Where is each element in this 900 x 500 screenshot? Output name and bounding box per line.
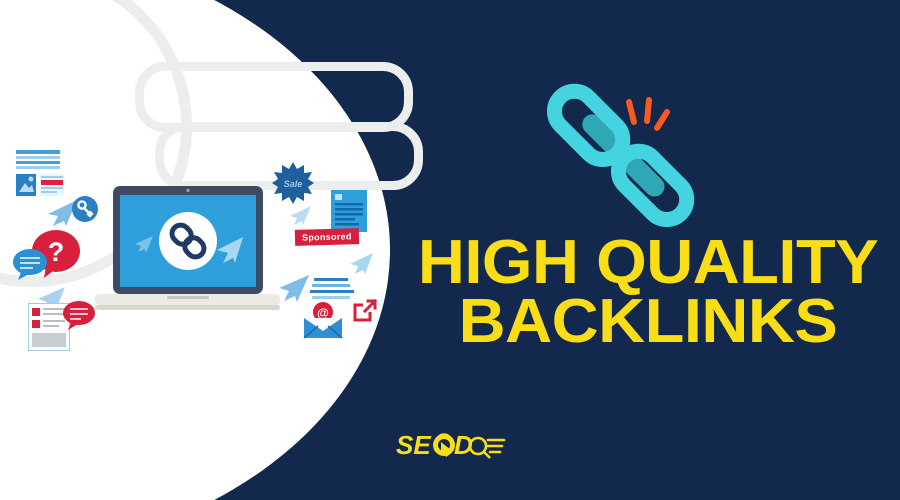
backlinks-promo-banner: ? <box>0 0 900 500</box>
chain-link-icon <box>512 62 732 242</box>
page-title: HIGH QUALITY BACKLINKS <box>408 234 888 352</box>
logo[interactable]: SE D <box>396 424 506 468</box>
headline-line-2: BACKLINKS <box>396 293 900 352</box>
sponsored-label: Sponsored <box>295 228 359 246</box>
email-envelope-icon: @ <box>300 300 346 340</box>
text-lines-icon <box>310 278 354 300</box>
email-at-symbol: @ <box>317 306 329 320</box>
chat-bubble-red-icon <box>62 300 96 330</box>
spark-lines-icon <box>629 100 667 128</box>
sale-badge: Sale <box>272 162 314 204</box>
external-link-icon <box>352 298 378 324</box>
magnifier-icon <box>470 438 490 458</box>
speed-lines-icon <box>488 440 504 452</box>
chat-bubble-blue-icon <box>12 248 48 280</box>
sale-badge-label: Sale <box>284 179 303 189</box>
cursor-arrow-icon <box>348 252 374 276</box>
news-article-icon <box>16 150 74 196</box>
laptop-illustration <box>95 186 280 321</box>
cursor-arrow-icon <box>288 205 312 227</box>
headline-line-1: HIGH QUALITY <box>396 234 900 293</box>
sponsored-label-text: Sponsored <box>295 228 359 246</box>
svg-text:?: ? <box>48 237 65 267</box>
blue-document-icon <box>331 190 367 232</box>
logo-text-primary: SE <box>396 430 431 460</box>
